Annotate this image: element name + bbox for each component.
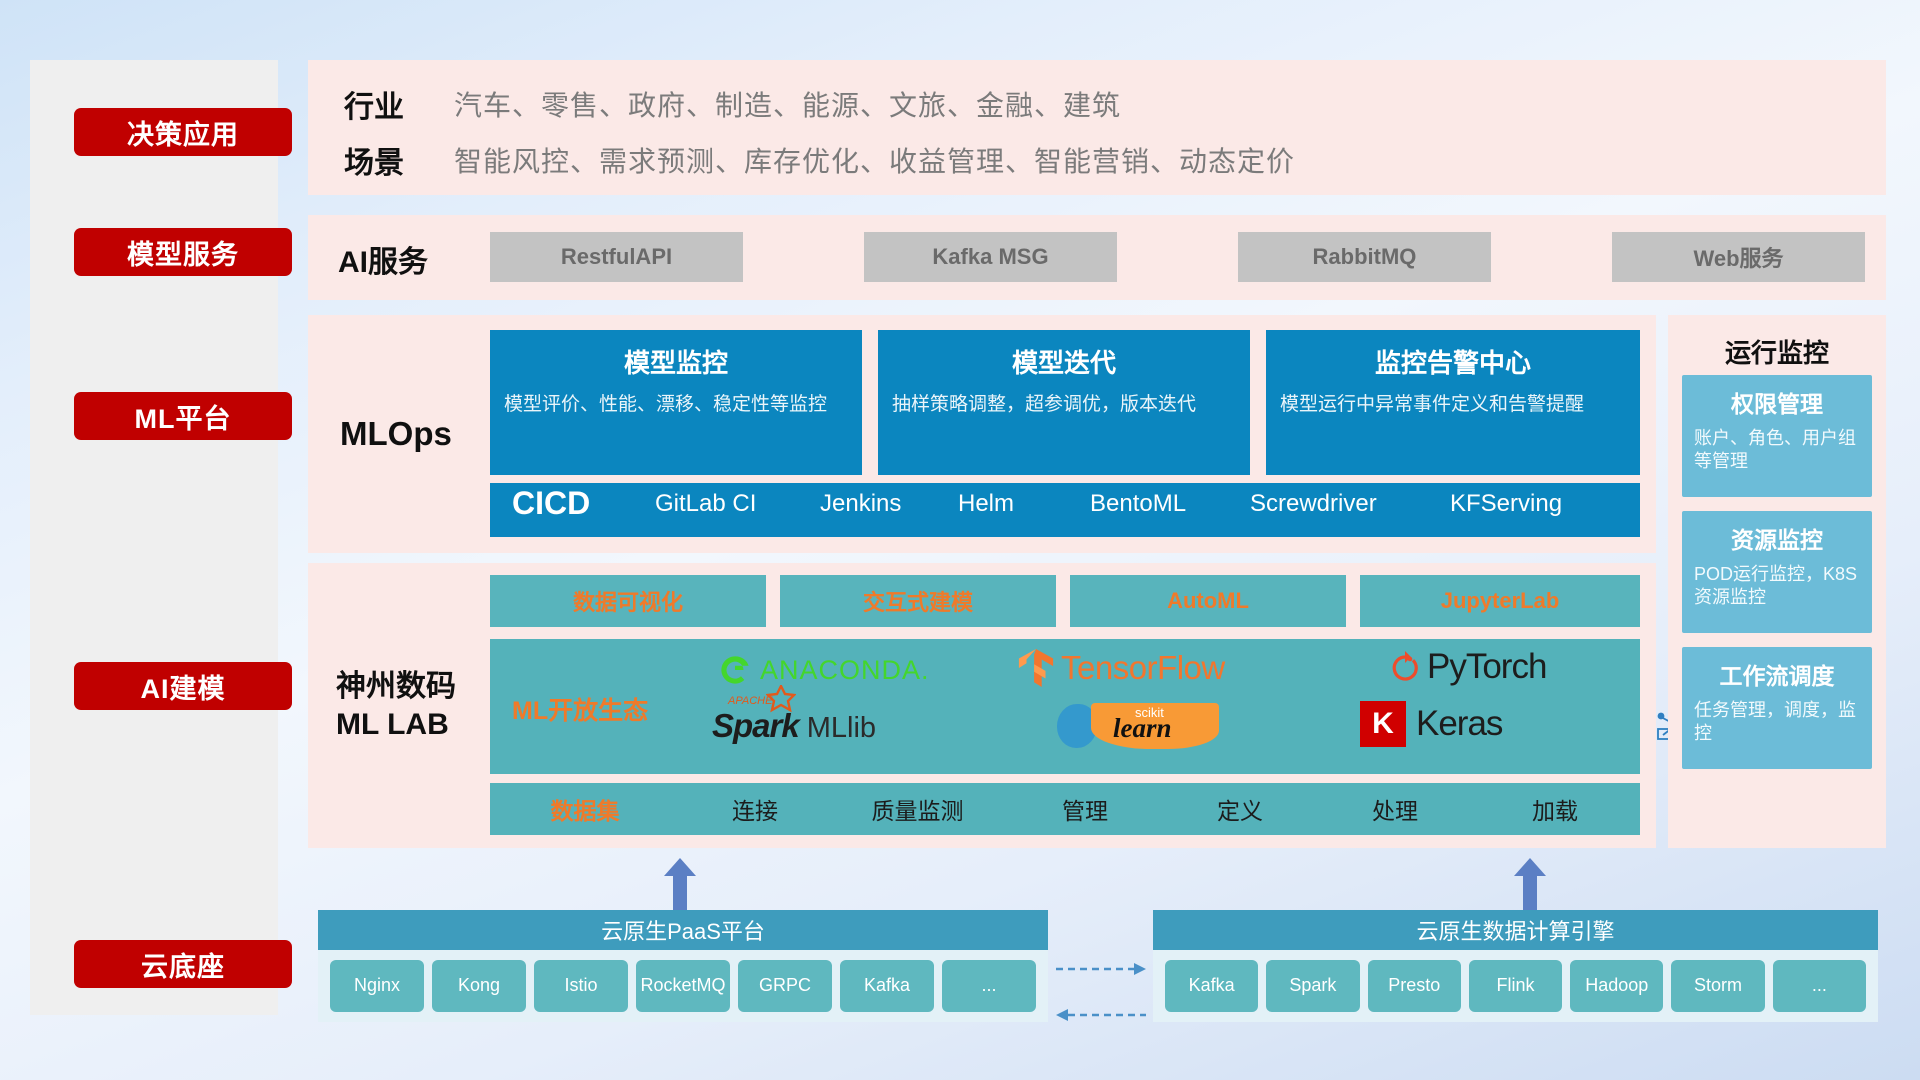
monitor-card-permission[interactable]: 权限管理 账户、角色、用户组等管理 xyxy=(1682,375,1872,497)
tool-interactive-modeling[interactable]: 交互式建模 xyxy=(780,575,1056,627)
rail-item-ml-platform[interactable]: ML平台 xyxy=(74,392,292,440)
runtime-monitor-panel: 运行监控 权限管理 账户、角色、用户组等管理 资源监控 POD运行监控，K8S资… xyxy=(1668,315,1886,848)
cicd-item-helm[interactable]: Helm xyxy=(958,491,1078,516)
paas-chip-kafka[interactable]: Kafka xyxy=(840,960,934,1012)
dataset-define[interactable]: 定义 xyxy=(1165,792,1315,826)
engine-chip-hadoop[interactable]: Hadoop xyxy=(1570,960,1663,1012)
rail-item-decision-app[interactable]: 决策应用 xyxy=(74,108,292,156)
cicd-item-screwdriver[interactable]: Screwdriver xyxy=(1250,491,1370,516)
cicd-item-bentoml[interactable]: BentoML xyxy=(1090,491,1210,516)
paas-box: 云原生PaaS平台 Nginx Kong Istio RocketMQ GRPC… xyxy=(318,910,1048,1022)
card-title: 权限管理 xyxy=(1682,385,1872,419)
card-desc: 任务管理，调度，监控 xyxy=(1694,699,1860,746)
cicd-item-jenkins[interactable]: Jenkins xyxy=(820,491,940,516)
engine-chip-flink[interactable]: Flink xyxy=(1469,960,1562,1012)
scikit-bottom-label: learn xyxy=(1113,713,1172,744)
dataset-label: 数据集 xyxy=(490,792,680,826)
data-engine-box: 云原生数据计算引擎 Kafka Spark Presto Flink Hadoo… xyxy=(1153,910,1878,1022)
card-desc: 模型运行中异常事件定义和告警提醒 xyxy=(1280,392,1626,418)
service-label: Web服务 xyxy=(1693,241,1783,273)
ai-service-key: AI服务 xyxy=(338,237,428,281)
rail-item-ai-modeling[interactable]: AI建模 xyxy=(74,662,292,710)
cicd-strip: CICD GitLab CI Jenkins Helm BentoML Scre… xyxy=(490,483,1640,537)
logo-spark-mllib: APACHE Spark MLlib xyxy=(712,707,876,745)
rail-label: ML平台 xyxy=(135,397,232,436)
paas-chip-grpc[interactable]: GRPC xyxy=(738,960,832,1012)
paas-chip-kong[interactable]: Kong xyxy=(432,960,526,1012)
industry-value: 汽车、零售、政府、制造、能源、文旅、金融、建筑 xyxy=(454,84,1121,124)
service-label: RestfulAPI xyxy=(561,244,672,270)
ml-lab-key-line2: ML LAB xyxy=(336,706,456,744)
paas-up-arrow-icon xyxy=(663,858,697,910)
dataset-load[interactable]: 加载 xyxy=(1475,792,1635,826)
service-label: RabbitMQ xyxy=(1313,244,1417,270)
keras-label: Keras xyxy=(1416,704,1502,744)
industry-scenario-band: 行业 汽车、零售、政府、制造、能源、文旅、金融、建筑 场景 智能风控、需求预测、… xyxy=(308,60,1886,195)
tool-label: 交互式建模 xyxy=(863,585,973,617)
paas-chip-nginx[interactable]: Nginx xyxy=(330,960,424,1012)
ml-ecosystem-panel: ML开放生态 ANACONDA. TensorFlow xyxy=(490,639,1640,774)
ai-service-band: AI服务 RestfulAPI Kafka MSG RabbitMQ Web服务 xyxy=(308,215,1886,300)
engine-chip-storm[interactable]: Storm xyxy=(1671,960,1764,1012)
cicd-item-gitlab[interactable]: GitLab CI xyxy=(655,491,775,516)
ml-ecosystem-label: ML开放生态 xyxy=(512,691,648,727)
service-web[interactable]: Web服务 xyxy=(1612,232,1865,282)
scenario-line: 场景 智能风控、需求预测、库存优化、收益管理、智能营销、动态定价 xyxy=(344,138,1295,182)
paas-chip-istio[interactable]: Istio xyxy=(534,960,628,1012)
card-title: 监控告警中心 xyxy=(1266,343,1640,380)
tensorflow-icon xyxy=(1017,647,1055,689)
card-desc: 模型评价、性能、漂移、稳定性等监控 xyxy=(504,392,848,418)
rail-label: AI建模 xyxy=(141,667,226,706)
data-engine-title: 云原生数据计算引擎 xyxy=(1153,910,1878,950)
rail-item-cloud-base[interactable]: 云底座 xyxy=(74,940,292,988)
tensorflow-label: TensorFlow xyxy=(1061,649,1225,687)
dashed-arrow-left-icon xyxy=(1056,1008,1146,1026)
runtime-monitor-title: 运行监控 xyxy=(1668,333,1886,370)
pytorch-icon xyxy=(1390,649,1420,685)
rail-label: 云底座 xyxy=(141,945,225,984)
ml-lab-key-line1: 神州数码 xyxy=(336,668,456,706)
rail-item-model-service[interactable]: 模型服务 xyxy=(74,228,292,276)
data-engine-up-arrow-icon xyxy=(1513,858,1547,910)
paas-chip-more[interactable]: ... xyxy=(942,960,1036,1012)
scikit-badge: scikit learn xyxy=(1091,703,1219,749)
service-rabbitmq[interactable]: RabbitMQ xyxy=(1238,232,1491,282)
rail-label: 模型服务 xyxy=(127,233,239,272)
dashed-arrow-right-icon xyxy=(1056,962,1146,980)
mlops-card-alert-center[interactable]: 监控告警中心 模型运行中异常事件定义和告警提醒 xyxy=(1266,330,1640,475)
cicd-title: CICD xyxy=(512,487,632,521)
keras-mark-letter: K xyxy=(1372,707,1394,741)
tool-jupyterlab[interactable]: JupyterLab xyxy=(1360,575,1640,627)
service-restfulapi[interactable]: RestfulAPI xyxy=(490,232,743,282)
mlops-card-model-monitor[interactable]: 模型监控 模型评价、性能、漂移、稳定性等监控 xyxy=(490,330,862,475)
engine-chip-more[interactable]: ... xyxy=(1773,960,1866,1012)
logo-anaconda: ANACONDA. xyxy=(718,653,930,687)
paas-chip-rocketmq[interactable]: RocketMQ xyxy=(636,960,730,1012)
service-kafka-msg[interactable]: Kafka MSG xyxy=(864,232,1117,282)
monitor-card-resource[interactable]: 资源监控 POD运行监控，K8S资源监控 xyxy=(1682,511,1872,633)
anaconda-icon xyxy=(718,653,752,687)
architecture-diagram: 决策应用 模型服务 ML平台 AI建模 云底座 行业 汽车、零售、政府、制造、能… xyxy=(0,0,1920,1080)
engine-chip-presto[interactable]: Presto xyxy=(1368,960,1461,1012)
dataset-manage[interactable]: 管理 xyxy=(1005,792,1165,826)
monitor-card-workflow[interactable]: 工作流调度 任务管理，调度，监控 xyxy=(1682,647,1872,769)
engine-chip-spark[interactable]: Spark xyxy=(1266,960,1359,1012)
pytorch-label: PyTorch xyxy=(1427,647,1546,687)
tool-label: JupyterLab xyxy=(1441,588,1560,614)
logo-pytorch: PyTorch xyxy=(1390,647,1546,687)
tool-automl[interactable]: AutoML xyxy=(1070,575,1346,627)
ml-lab-band: 神州数码 ML LAB 数据可视化 交互式建模 AutoML JupyterLa… xyxy=(308,563,1656,848)
keras-mark-icon: K xyxy=(1360,701,1406,747)
logo-scikit-learn: scikit learn xyxy=(1057,703,1219,749)
industry-line: 行业 汽车、零售、政府、制造、能源、文旅、金融、建筑 xyxy=(344,82,1121,126)
left-rail: 决策应用 模型服务 ML平台 AI建模 云底座 xyxy=(30,60,278,1015)
service-label: Kafka MSG xyxy=(932,244,1048,270)
engine-chip-kafka[interactable]: Kafka xyxy=(1165,960,1258,1012)
industry-key: 行业 xyxy=(344,82,454,126)
mlops-key: MLOps xyxy=(340,415,452,453)
card-title: 工作流调度 xyxy=(1682,657,1872,691)
card-desc: POD运行监控，K8S资源监控 xyxy=(1694,563,1860,610)
paas-chip-row: Nginx Kong Istio RocketMQ GRPC Kafka ... xyxy=(318,950,1048,1022)
rail-label: 决策应用 xyxy=(127,113,239,152)
logo-tensorflow: TensorFlow xyxy=(1017,647,1225,689)
mlops-band: MLOps 模型监控 模型评价、性能、漂移、稳定性等监控 模型迭代 抽样策略调整… xyxy=(308,315,1656,553)
data-engine-chip-row: Kafka Spark Presto Flink Hadoop Storm ..… xyxy=(1153,950,1878,1022)
dataset-strip: 数据集 连接 质量监测 管理 定义 处理 加载 xyxy=(490,783,1640,835)
mlops-card-model-iteration[interactable]: 模型迭代 抽样策略调整，超参调优，版本迭代 xyxy=(878,330,1250,475)
dataset-process[interactable]: 处理 xyxy=(1315,792,1475,826)
scenario-value: 智能风控、需求预测、库存优化、收益管理、智能营销、动态定价 xyxy=(454,140,1295,180)
card-title: 模型迭代 xyxy=(878,343,1250,380)
cloud-foundation-row: 云原生PaaS平台 Nginx Kong Istio RocketMQ GRPC… xyxy=(308,880,1886,1015)
card-desc: 抽样策略调整，超参调优，版本迭代 xyxy=(892,392,1236,418)
spark-star-icon xyxy=(766,685,796,713)
tool-label: AutoML xyxy=(1167,588,1249,614)
anaconda-label: ANACONDA. xyxy=(760,655,930,686)
cicd-item-kfserving[interactable]: KFServing xyxy=(1450,491,1570,516)
mllib-label: MLlib xyxy=(807,712,876,745)
dataset-connect[interactable]: 连接 xyxy=(680,792,830,826)
logo-keras: K Keras xyxy=(1360,701,1502,747)
card-title: 模型监控 xyxy=(490,343,862,380)
paas-title: 云原生PaaS平台 xyxy=(318,910,1048,950)
dataset-quality[interactable]: 质量监测 xyxy=(830,792,1005,826)
card-desc: 账户、角色、用户组等管理 xyxy=(1694,427,1860,474)
scenario-key: 场景 xyxy=(344,138,454,182)
tool-data-visualization[interactable]: 数据可视化 xyxy=(490,575,766,627)
ml-lab-key: 神州数码 ML LAB xyxy=(336,668,456,745)
card-title: 资源监控 xyxy=(1682,521,1872,555)
tool-label: 数据可视化 xyxy=(573,585,683,617)
